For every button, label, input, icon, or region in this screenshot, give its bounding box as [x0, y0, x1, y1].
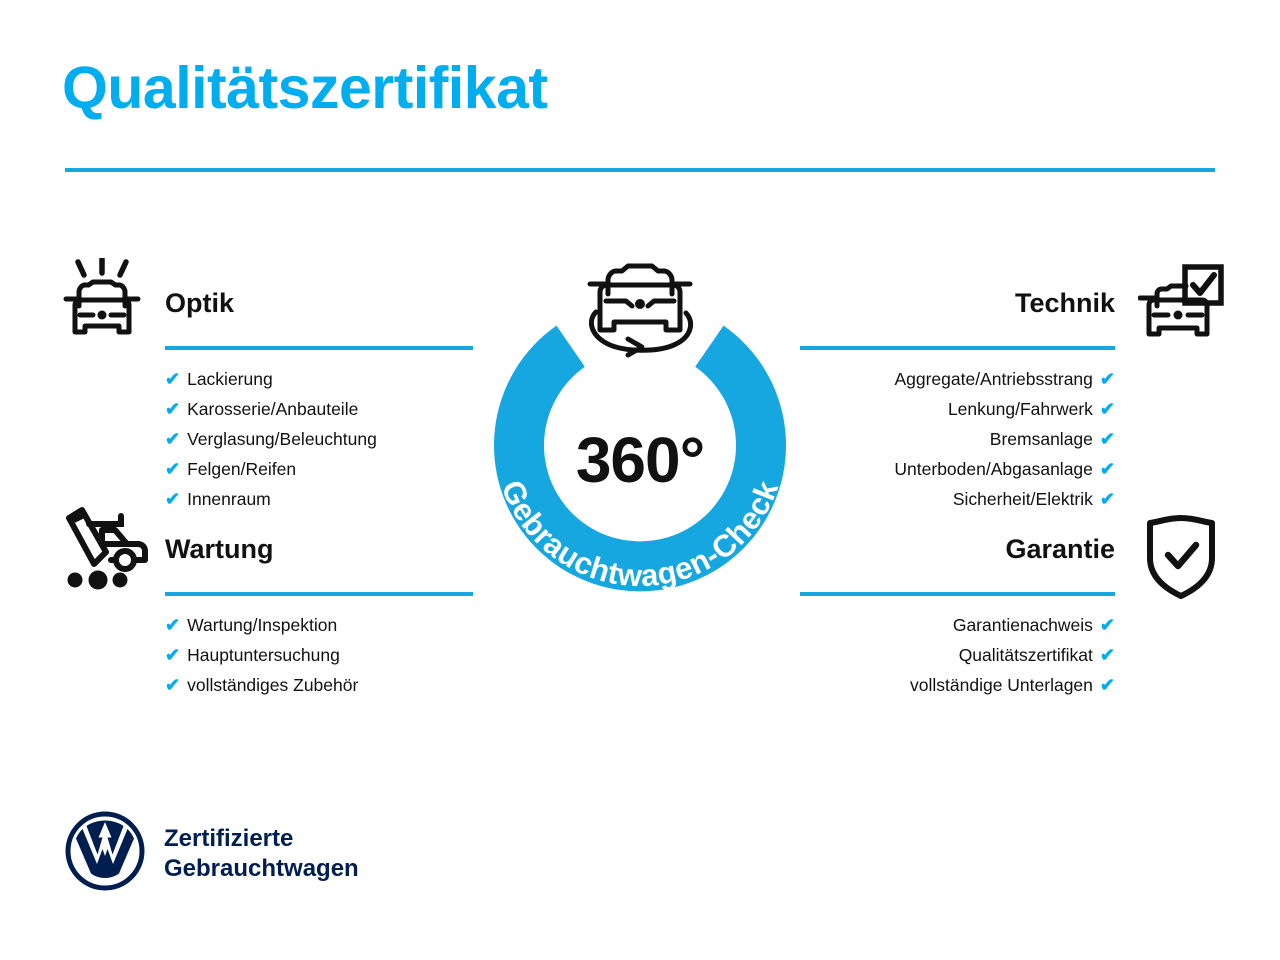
car-shine-icon [62, 258, 142, 355]
list-item-label: vollständige Unterlagen [910, 670, 1093, 700]
list-item: ✔Verglasung/Beleuchtung [165, 424, 473, 454]
check-icon: ✔ [165, 640, 180, 670]
check-icon: ✔ [165, 484, 180, 514]
list-item-label: Wartung/Inspektion [187, 610, 337, 640]
check-icon: ✔ [1100, 454, 1115, 484]
list-item-label: Felgen/Reifen [187, 454, 296, 484]
section-divider [800, 592, 1115, 596]
car-checkbox-icon [1138, 264, 1226, 351]
list-item-label: Bremsanlage [990, 424, 1093, 454]
section-wartung: Wartung ✔Wartung/Inspektion ✔Hauptunters… [165, 536, 473, 700]
section-optik: Optik ✔Lackierung ✔Karosserie/Anbauteile… [165, 290, 473, 514]
list-item-label: Innenraum [187, 484, 271, 514]
check-icon: ✔ [1100, 640, 1115, 670]
list-item: Bremsanlage✔ [800, 424, 1115, 454]
list-item-label: Hauptuntersuchung [187, 640, 340, 670]
section-title: Technik [800, 290, 1115, 317]
list-item: Aggregate/Antriebsstrang✔ [800, 364, 1115, 394]
footer-brand-text: Zertifizierte Gebrauchtwagen [164, 824, 359, 884]
check-icon: ✔ [165, 364, 180, 394]
section-header: Wartung [165, 536, 473, 596]
check-icon: ✔ [165, 670, 180, 700]
section-item-list: Aggregate/Antriebsstrang✔ Lenkung/Fahrwe… [800, 364, 1115, 514]
check-icon: ✔ [1100, 364, 1115, 394]
section-header: Optik [165, 290, 473, 350]
car-rotate-360-icon [566, 256, 714, 366]
check-icon: ✔ [1100, 610, 1115, 640]
badge-360-gebrauchtwagen-check: Gebrauchtwagen-Check 360° [452, 252, 828, 628]
list-item-label: Garantienachweis [953, 610, 1093, 640]
section-title: Optik [165, 290, 473, 317]
list-item: Sicherheit/Elektrik✔ [800, 484, 1115, 514]
list-item-label: Sicherheit/Elektrik [953, 484, 1093, 514]
pen-car-service-icon [58, 506, 150, 599]
section-technik: Technik Aggregate/Antriebsstrang✔ Lenkun… [800, 290, 1115, 514]
section-header: Garantie [800, 536, 1115, 596]
badge-value: 360° [452, 420, 828, 500]
list-item-label: Qualitätszertifikat [959, 640, 1093, 670]
check-icon: ✔ [165, 424, 180, 454]
section-item-list: Garantienachweis✔ Qualitätszertifikat✔ v… [800, 610, 1115, 700]
list-item: ✔Wartung/Inspektion [165, 610, 473, 640]
list-item: ✔vollständiges Zubehör [165, 670, 473, 700]
check-icon: ✔ [1100, 424, 1115, 454]
list-item: Garantienachweis✔ [800, 610, 1115, 640]
vw-logo-icon [64, 810, 146, 897]
shield-check-icon [1144, 514, 1218, 605]
list-item: ✔Innenraum [165, 484, 473, 514]
section-garantie: Garantie Garantienachweis✔ Qualitätszert… [800, 536, 1115, 700]
list-item: vollständige Unterlagen✔ [800, 670, 1115, 700]
section-divider [165, 592, 473, 596]
section-divider [165, 346, 473, 350]
list-item-label: Unterboden/Abgasanlage [894, 454, 1093, 484]
list-item: Unterboden/Abgasanlage✔ [800, 454, 1115, 484]
list-item-label: Lackierung [187, 364, 273, 394]
list-item-label: Verglasung/Beleuchtung [187, 424, 377, 454]
section-item-list: ✔Wartung/Inspektion ✔Hauptuntersuchung ✔… [165, 610, 473, 700]
list-item: ✔Lackierung [165, 364, 473, 394]
section-title: Wartung [165, 536, 473, 563]
list-item-label: Aggregate/Antriebsstrang [894, 364, 1092, 394]
check-icon: ✔ [165, 610, 180, 640]
footer-brand: Zertifizierte Gebrauchtwagen [64, 810, 359, 897]
section-header: Technik [800, 290, 1115, 350]
check-icon: ✔ [1100, 484, 1115, 514]
list-item-label: Karosserie/Anbauteile [187, 394, 358, 424]
page-title: Qualitätszertifikat [62, 58, 548, 120]
check-icon: ✔ [1100, 394, 1115, 424]
header-divider [65, 168, 1215, 172]
check-icon: ✔ [1100, 670, 1115, 700]
list-item-label: vollständiges Zubehör [187, 670, 358, 700]
list-item-label: Lenkung/Fahrwerk [948, 394, 1093, 424]
check-icon: ✔ [165, 454, 180, 484]
check-icon: ✔ [165, 394, 180, 424]
list-item: Qualitätszertifikat✔ [800, 640, 1115, 670]
list-item: ✔Felgen/Reifen [165, 454, 473, 484]
section-title: Garantie [800, 536, 1115, 563]
section-divider [800, 346, 1115, 350]
section-item-list: ✔Lackierung ✔Karosserie/Anbauteile ✔Verg… [165, 364, 473, 514]
list-item: ✔Hauptuntersuchung [165, 640, 473, 670]
list-item: ✔Karosserie/Anbauteile [165, 394, 473, 424]
list-item: Lenkung/Fahrwerk✔ [800, 394, 1115, 424]
